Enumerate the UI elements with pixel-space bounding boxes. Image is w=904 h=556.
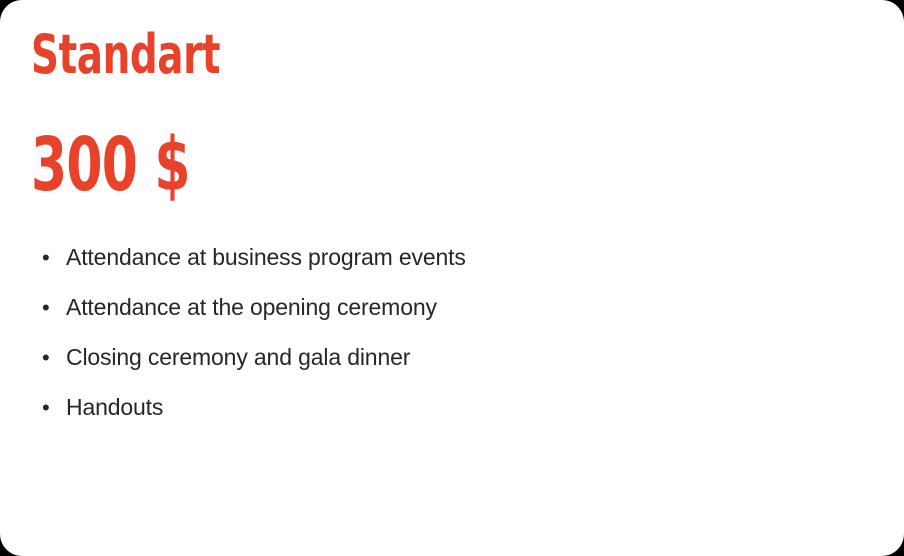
pricing-card-content: Standart 300 $ • Attendance at business … <box>0 0 904 556</box>
benefit-label: Handouts <box>66 392 842 422</box>
plan-price: 300 $ <box>31 126 190 204</box>
pricing-card: Standart 300 $ • Attendance at business … <box>0 0 904 556</box>
bullet-icon: • <box>42 343 66 373</box>
list-item: • Handouts <box>42 392 842 442</box>
bullet-icon: • <box>42 293 66 323</box>
benefit-label: Closing ceremony and gala dinner <box>66 342 842 372</box>
bullet-icon: • <box>42 243 66 273</box>
plan-title: Standart <box>31 26 220 84</box>
benefit-label: Attendance at the opening ceremony <box>66 292 842 322</box>
benefit-label: Attendance at business program events <box>66 242 842 272</box>
bullet-icon: • <box>42 393 66 423</box>
list-item: • Attendance at the opening ceremony <box>42 292 842 342</box>
benefits-list: • Attendance at business program events … <box>42 242 842 442</box>
list-item: • Attendance at business program events <box>42 242 842 292</box>
list-item: • Closing ceremony and gala dinner <box>42 342 842 392</box>
